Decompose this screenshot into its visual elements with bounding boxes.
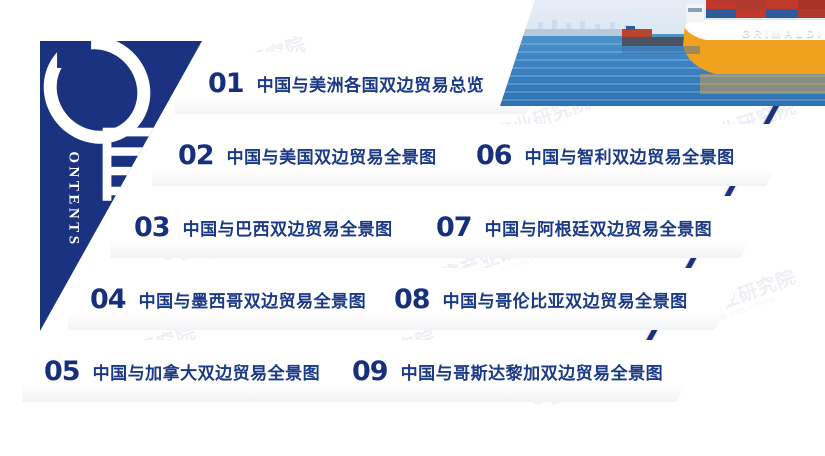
item-label: 中国与美国双边贸易全景图 — [227, 143, 437, 168]
contents-panel: 目 录 ONTENTS — [40, 41, 202, 331]
item-number: 08 — [394, 286, 430, 313]
cjk-mu-glyph: 目 — [91, 125, 173, 207]
item-number: 07 — [436, 214, 472, 241]
ship-illustration — [500, 0, 825, 106]
item-label: 中国与哥斯达黎加双边贸易全景图 — [401, 359, 664, 384]
item-number: 09 — [352, 358, 388, 385]
item-label: 中国与巴西双边贸易全景图 — [183, 215, 393, 240]
cjk-lu-glyph: 录 — [116, 184, 198, 266]
contents-slide: 前瞻产业研究院QIANZHAN INTELLIGENCE 前瞻产业研究院QIAN… — [0, 0, 825, 456]
item-label: 中国与哥伦比亚双边贸易全景图 — [443, 287, 688, 312]
container-ship-photo: GRIMALDI — [500, 0, 825, 106]
item-label: 中国与阿根廷双边贸易全景图 — [485, 215, 713, 240]
item-label: 中国与智利双边贸易全景图 — [525, 143, 735, 168]
item-number: 06 — [476, 142, 512, 169]
contents-item-09[interactable]: 09 中国与哥斯达黎加双边贸易全景图 — [330, 340, 710, 402]
contents-item-06[interactable]: 06 中国与智利双边贸易全景图 — [452, 124, 800, 186]
item-number: 01 — [208, 70, 244, 97]
contents-word: ONTENTS — [65, 125, 82, 275]
item-number: 05 — [44, 358, 80, 385]
contents-item-07[interactable]: 07 中国与阿根廷双边贸易全景图 — [412, 196, 774, 258]
ship-name-label: GRIMALDI — [742, 28, 824, 40]
item-label: 中国与美洲各国双边贸易总览 — [257, 71, 485, 96]
item-label: 中国与加拿大双边贸易全景图 — [93, 359, 321, 384]
triangle-content: 目 录 ONTENTS — [40, 41, 202, 331]
contents-item-08[interactable]: 08 中国与哥伦比亚双边贸易全景图 — [370, 268, 748, 330]
